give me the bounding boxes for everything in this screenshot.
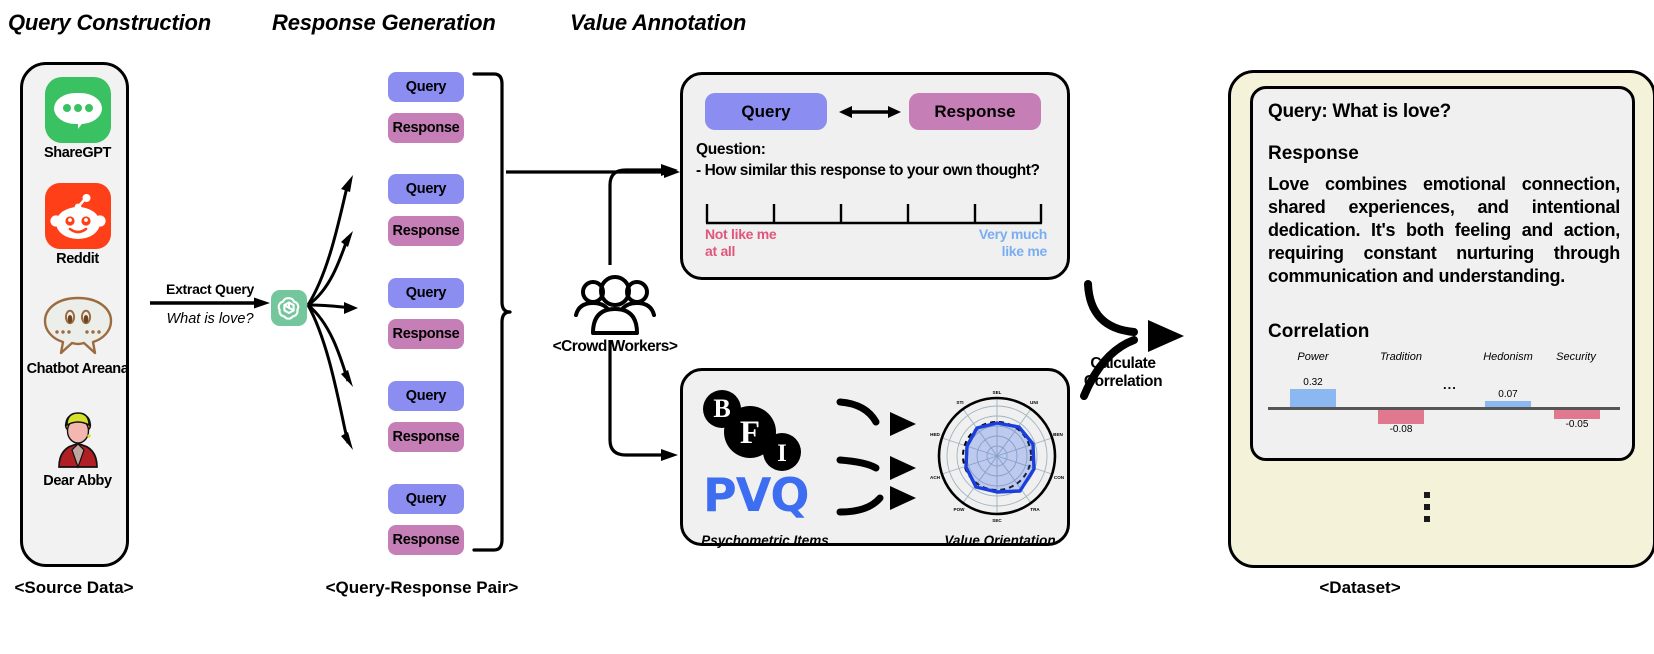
correlation-bar-chart: Power 0.32 Tradition -0.08 ... Hedonism … bbox=[1268, 351, 1620, 446]
likert-left-line1: Not like me bbox=[705, 226, 776, 243]
dataset-correlation-title: Correlation bbox=[1268, 321, 1369, 343]
source-data-panel: ShareGPT Reddit bbox=[20, 62, 129, 567]
response-chip[interactable]: Response bbox=[388, 525, 464, 555]
corr-category-label: Tradition bbox=[1356, 351, 1446, 363]
crowd-workers-icon bbox=[545, 275, 685, 337]
source-item-chatbot-arena[interactable]: Chatbot Areana bbox=[23, 293, 132, 377]
svg-text:BEN: BEN bbox=[1053, 432, 1063, 437]
chatbot-arena-icon bbox=[45, 293, 111, 359]
svg-text:CON: CON bbox=[1054, 475, 1065, 480]
dataset-response-body: Love combines emotional connection, shar… bbox=[1268, 173, 1620, 288]
section-heading-response-generation: Response Generation bbox=[272, 10, 496, 36]
svg-text:F: F bbox=[740, 415, 760, 451]
svg-text:SEC: SEC bbox=[992, 518, 1002, 523]
survey-question-text: - How similar this response to your own … bbox=[696, 162, 1040, 180]
psychometric-flow-arrows-icon bbox=[836, 398, 920, 520]
corr-value-label: -0.05 bbox=[1538, 419, 1616, 430]
sharegpt-icon bbox=[45, 77, 111, 143]
svg-text:B: B bbox=[713, 394, 730, 423]
fanout-arrows-icon bbox=[300, 65, 395, 565]
calculate-line1: Calculate bbox=[1068, 355, 1178, 373]
corr-category-label: Security bbox=[1532, 351, 1620, 363]
pvq-logo-label: PVQ bbox=[703, 472, 808, 518]
query-chip[interactable]: Query bbox=[388, 278, 464, 308]
survey-response-chip[interactable]: Response bbox=[909, 93, 1041, 130]
likert-scale-right-label: Very much like me bbox=[979, 226, 1047, 260]
dataset-response-title: Response bbox=[1268, 143, 1359, 165]
likert-right-line1: Very much bbox=[979, 226, 1047, 243]
crowd-workers-group: <Crowd Workers> bbox=[545, 275, 685, 356]
response-chip[interactable]: Response bbox=[388, 319, 464, 349]
svg-text:HED: HED bbox=[930, 432, 940, 437]
svg-text:STI: STI bbox=[956, 400, 963, 405]
source-item-dear-abby[interactable]: Dear Abby bbox=[23, 405, 132, 489]
extract-query-group: Extract Query What is love? bbox=[150, 281, 270, 327]
caption-source-data: <Source Data> bbox=[0, 578, 148, 598]
survey-query-chip[interactable]: Query bbox=[705, 93, 827, 130]
svg-text:TRA: TRA bbox=[1030, 507, 1040, 512]
extract-query-arrow-icon bbox=[150, 297, 270, 310]
query-chip[interactable]: Query bbox=[388, 72, 464, 102]
section-heading-value-annotation: Value Annotation bbox=[570, 10, 746, 36]
extract-query-example: What is love? bbox=[150, 311, 270, 327]
corr-value-label: 0.07 bbox=[1469, 389, 1547, 400]
query-chip[interactable]: Query bbox=[388, 484, 464, 514]
source-item-label: Reddit bbox=[23, 251, 132, 267]
survey-annotation-panel: Query Response Question: - How similar t… bbox=[680, 72, 1070, 280]
value-orientation-radar-chart: SEL UNI BEN CON TRA SEC POW ACH HED STI bbox=[933, 386, 1061, 526]
likert-scale[interactable] bbox=[705, 203, 1043, 225]
bidirectional-arrow-icon bbox=[839, 103, 901, 121]
response-chip[interactable]: Response bbox=[388, 216, 464, 246]
dear-abby-icon bbox=[45, 405, 111, 471]
query-chip[interactable]: Query bbox=[388, 381, 464, 411]
section-heading-query-construction: Query Construction bbox=[8, 10, 211, 36]
extract-query-label: Extract Query bbox=[150, 281, 270, 297]
response-chip[interactable]: Response bbox=[388, 422, 464, 452]
dataset-record-card: Query: What is love? Response Love combi… bbox=[1250, 86, 1635, 461]
svg-text:ACH: ACH bbox=[930, 475, 941, 480]
query-response-pair-list: Query Response Query Response Query Resp… bbox=[388, 72, 468, 552]
source-item-label: Dear Abby bbox=[23, 473, 132, 489]
query-chip[interactable]: Query bbox=[388, 174, 464, 204]
dataset-vertical-ellipsis bbox=[1424, 492, 1430, 522]
corr-bar-positive bbox=[1485, 401, 1531, 407]
source-item-label: ShareGPT bbox=[23, 145, 132, 161]
svg-text:SEL: SEL bbox=[993, 390, 1002, 395]
calculate-correlation-label: Calculate Correlation bbox=[1068, 355, 1178, 392]
reddit-icon bbox=[45, 183, 111, 249]
calculate-line2: Correlation bbox=[1068, 373, 1178, 391]
likert-scale-left-label: Not like me at all bbox=[705, 226, 776, 260]
likert-left-line2: at all bbox=[705, 243, 776, 260]
dataset-query-text: Query: What is love? bbox=[1268, 101, 1451, 123]
response-chip[interactable]: Response bbox=[388, 113, 464, 143]
source-item-reddit[interactable]: Reddit bbox=[23, 183, 132, 267]
svg-text:I: I bbox=[777, 440, 787, 467]
corr-category-label: Power bbox=[1268, 351, 1358, 363]
bfi-logo-icon: B F I bbox=[700, 390, 812, 472]
corr-gap-ellipsis: ... bbox=[1443, 377, 1457, 392]
corr-bar-negative bbox=[1378, 410, 1424, 424]
corr-bar-positive bbox=[1290, 389, 1336, 407]
corr-value-label: 0.32 bbox=[1274, 377, 1352, 388]
corr-value-label: -0.08 bbox=[1362, 424, 1440, 435]
likert-right-line2: like me bbox=[979, 243, 1047, 260]
svg-text:UNI: UNI bbox=[1030, 400, 1038, 405]
corr-bar-negative bbox=[1554, 410, 1600, 419]
svg-text:POW: POW bbox=[954, 507, 966, 512]
crowd-workers-label: <Crowd Workers> bbox=[545, 338, 685, 356]
source-item-sharegpt[interactable]: ShareGPT bbox=[23, 77, 132, 161]
psychometric-items-caption: Psychometric Items bbox=[690, 533, 840, 548]
value-orientation-caption: Value Orientation bbox=[925, 533, 1075, 548]
source-item-label: Chatbot Areana bbox=[23, 361, 132, 377]
caption-dataset: <Dataset> bbox=[1235, 578, 1485, 598]
caption-query-response-pair: <Query-Response Pair> bbox=[322, 578, 522, 598]
survey-question-title: Question: bbox=[696, 141, 766, 159]
diagram-canvas: Query Construction Response Generation V… bbox=[0, 0, 1654, 654]
